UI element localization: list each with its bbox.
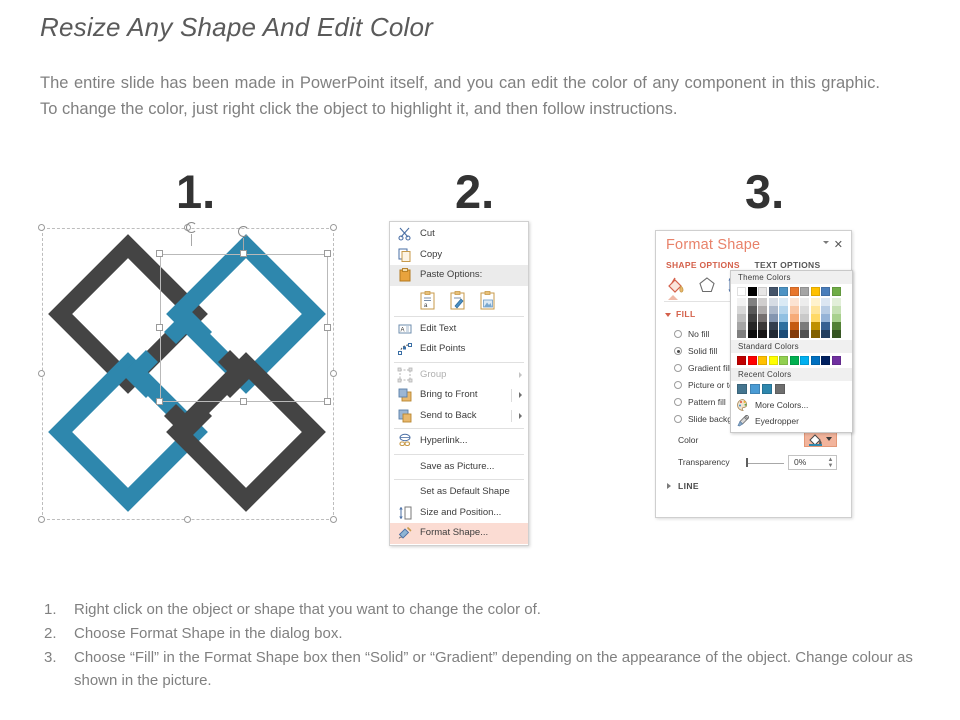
context-menu-label: Group — [420, 369, 446, 380]
radio-label: No fill — [688, 329, 709, 339]
context-menu-label: Save as Picture... — [420, 461, 494, 472]
menu-separator — [394, 316, 524, 317]
bring-front-icon — [397, 387, 413, 403]
transparency-value: 0% — [794, 457, 806, 467]
chevron-down-icon[interactable] — [826, 437, 832, 441]
line-expand-triangle-icon[interactable] — [667, 483, 671, 489]
context-menu-label: Bring to Front — [420, 389, 478, 400]
color-swatch[interactable] — [769, 298, 778, 306]
context-menu-label: Copy — [420, 249, 442, 260]
radio-label: Pattern fill — [688, 397, 726, 407]
recent-colors-header: Recent Colors — [731, 368, 852, 381]
paste-icon — [397, 267, 413, 283]
menu-divider — [511, 389, 512, 402]
effects-pentagon-icon[interactable] — [696, 275, 718, 295]
submenu-arrow-icon — [519, 392, 522, 398]
transparency-input[interactable]: 0% ▲▼ — [788, 455, 837, 470]
context-menu-item-group: Group — [390, 365, 528, 386]
recent-colors-row[interactable] — [731, 381, 852, 397]
color-swatch[interactable] — [758, 356, 767, 365]
color-swatch[interactable] — [821, 298, 830, 306]
more-colors-item[interactable]: More Colors... — [731, 397, 852, 413]
color-bucket-icon — [808, 432, 824, 446]
theme-color-column[interactable] — [769, 287, 778, 338]
color-swatch[interactable] — [758, 322, 767, 330]
context-menu-label: Format Shape... — [420, 527, 488, 538]
theme-color-column[interactable] — [832, 287, 841, 338]
inner-handle-nw[interactable] — [156, 250, 163, 257]
fill-expand-triangle-icon[interactable] — [665, 313, 671, 317]
color-swatch[interactable] — [790, 298, 799, 306]
menu-separator — [394, 362, 524, 363]
dialog-title: Format Shape — [666, 237, 760, 253]
context-menu-label: Hyperlink... — [420, 435, 468, 446]
menu-separator — [394, 479, 524, 480]
radio-label: Solid fill — [688, 346, 717, 356]
inner-handle-sw[interactable] — [156, 398, 163, 405]
page-title: Resize Any Shape And Edit Color — [40, 12, 433, 43]
theme-color-column[interactable] — [779, 287, 788, 338]
color-swatch[interactable] — [811, 287, 820, 296]
color-swatch[interactable] — [737, 306, 746, 314]
right-click-context-menu[interactable]: Cut Copy Paste Options: — [389, 221, 529, 546]
eyedropper-icon — [736, 414, 750, 428]
theme-color-column[interactable] — [790, 287, 799, 338]
context-menu-label: Paste Options: — [420, 269, 482, 280]
color-swatch[interactable] — [737, 314, 746, 322]
color-swatch[interactable] — [811, 298, 820, 306]
color-swatch[interactable] — [769, 314, 778, 322]
format-shape-icon — [397, 525, 413, 541]
edit-text-icon: A — [397, 321, 413, 337]
color-swatch[interactable] — [800, 306, 809, 314]
color-swatch[interactable] — [800, 314, 809, 322]
color-swatch[interactable] — [775, 384, 785, 394]
color-swatch[interactable] — [790, 330, 799, 338]
standard-colors-row[interactable] — [731, 353, 852, 368]
context-menu-item-size-and-position[interactable]: Size and Position... — [390, 503, 528, 524]
color-swatch[interactable] — [779, 287, 788, 296]
color-swatch[interactable] — [758, 298, 767, 306]
inner-handle-se[interactable] — [324, 398, 331, 405]
context-menu-item-edit-text[interactable]: A Edit Text — [390, 319, 528, 340]
list-number: 2. — [44, 622, 66, 645]
color-swatch[interactable] — [821, 287, 830, 296]
theme-color-column[interactable] — [800, 287, 809, 338]
resize-handle-ne[interactable] — [330, 224, 337, 231]
context-menu-item-paste-options: Paste Options: — [390, 265, 528, 286]
context-menu-item-set-as-default-shape[interactable]: Set as Default Shape — [390, 482, 528, 503]
color-picker-popup[interactable]: Theme Colors Standard Colors Recent Colo… — [730, 270, 853, 433]
context-menu-item-hyperlink[interactable]: Hyperlink... — [390, 431, 528, 452]
theme-color-column[interactable] — [811, 287, 820, 338]
context-menu-item-cut[interactable]: Cut — [390, 224, 528, 245]
list-text: Right click on the object or shape that … — [74, 598, 938, 621]
more-colors-label: More Colors... — [755, 400, 808, 410]
context-menu-label: Send to Back — [420, 410, 477, 421]
resize-handle-e[interactable] — [330, 370, 337, 377]
color-swatch[interactable] — [748, 287, 757, 296]
color-swatch[interactable] — [821, 356, 830, 365]
radio-button-icon[interactable] — [674, 364, 682, 372]
step-number-1: 1. — [176, 168, 215, 215]
color-swatch[interactable] — [737, 356, 746, 365]
color-swatch[interactable] — [779, 306, 788, 314]
rotate-handle-outer[interactable] — [186, 222, 197, 233]
fill-bucket-icon[interactable] — [666, 275, 688, 295]
radio-button-icon[interactable] — [674, 398, 682, 406]
color-swatch[interactable] — [811, 306, 820, 314]
dialog-tabs[interactable]: SHAPE OPTIONS TEXT OPTIONS — [666, 260, 820, 270]
eyedropper-item[interactable]: Eyedropper — [731, 413, 852, 429]
list-text: Choose Format Shape in the dialog box. — [74, 622, 938, 645]
color-swatch[interactable] — [800, 322, 809, 330]
color-swatch[interactable] — [769, 287, 778, 296]
fill-section-header[interactable]: FILL — [676, 309, 696, 319]
rotate-stem-inner — [243, 238, 244, 250]
rotate-stem-outer — [191, 234, 192, 246]
color-swatch[interactable] — [769, 330, 778, 338]
edit-points-icon — [397, 341, 413, 357]
inner-handle-n[interactable] — [240, 250, 247, 257]
color-swatch[interactable] — [748, 330, 757, 338]
list-item: 3. Choose “Fill” in the Format Shape box… — [38, 646, 938, 692]
paste-options-buttons[interactable]: a — [390, 286, 528, 314]
transparency-label: Transparency — [678, 457, 730, 467]
transparency-slider-knob[interactable] — [746, 458, 748, 467]
step-number-2: 2. — [455, 168, 494, 215]
color-swatch[interactable] — [758, 306, 767, 314]
color-swatch[interactable] — [832, 287, 841, 296]
transparency-slider-track[interactable] — [748, 463, 784, 464]
color-swatch[interactable] — [750, 384, 760, 394]
color-swatch[interactable] — [779, 314, 788, 322]
context-menu-item-bring-to-front[interactable]: Bring to Front — [390, 385, 528, 406]
resize-handle-w[interactable] — [38, 370, 45, 377]
color-swatch[interactable] — [800, 287, 809, 296]
color-swatch[interactable] — [790, 356, 799, 365]
color-swatch[interactable] — [821, 314, 830, 322]
theme-colors-grid[interactable] — [731, 284, 852, 340]
context-menu-item-save-as-picture[interactable]: Save as Picture... — [390, 457, 528, 478]
theme-colors-header: Theme Colors — [731, 271, 852, 284]
inner-selection-box — [160, 254, 328, 402]
radio-button-icon[interactable] — [674, 415, 682, 423]
list-number: 3. — [44, 646, 66, 669]
color-swatch[interactable] — [769, 306, 778, 314]
color-swatch[interactable] — [821, 306, 830, 314]
color-swatch[interactable] — [748, 306, 757, 314]
slide-canvas: Resize Any Shape And Edit Color The enti… — [0, 0, 960, 720]
color-swatch[interactable] — [758, 287, 767, 296]
color-swatch[interactable] — [769, 356, 778, 365]
context-menu-label: Size and Position... — [420, 507, 501, 518]
submenu-arrow-icon — [519, 413, 522, 419]
context-menu-item-format-shape[interactable]: Format Shape... — [390, 523, 528, 544]
radio-button-icon[interactable] — [674, 381, 682, 389]
color-swatch[interactable] — [790, 314, 799, 322]
color-swatch[interactable] — [769, 322, 778, 330]
inner-handle-ne[interactable] — [324, 250, 331, 257]
color-swatch[interactable] — [779, 322, 788, 330]
color-swatch[interactable] — [737, 330, 746, 338]
resize-handle-nw[interactable] — [38, 224, 45, 231]
spinner-arrows-icon[interactable]: ▲▼ — [827, 457, 834, 470]
send-back-icon — [397, 408, 413, 424]
color-swatch[interactable] — [779, 356, 788, 365]
color-swatch[interactable] — [800, 356, 809, 365]
inner-handle-s[interactable] — [240, 398, 247, 405]
color-swatch[interactable] — [811, 314, 820, 322]
step-number-3: 3. — [745, 168, 784, 215]
hyperlink-icon — [397, 433, 413, 449]
color-swatch[interactable] — [811, 356, 820, 365]
paste-picture-icon[interactable] — [478, 290, 498, 311]
instructions-list: 1. Right click on the object or shape th… — [38, 598, 938, 693]
rotate-handle-inner[interactable] — [238, 226, 249, 237]
context-menu-label: Edit Points — [420, 343, 465, 354]
context-menu-item-send-to-back[interactable]: Send to Back — [390, 406, 528, 427]
color-swatch[interactable] — [779, 298, 788, 306]
color-swatch[interactable] — [821, 322, 830, 330]
paste-use-destination-theme-icon[interactable] — [448, 290, 468, 311]
theme-color-column[interactable] — [821, 287, 830, 338]
intro-paragraph: The entire slide has been made in PowerP… — [40, 70, 880, 122]
color-swatch[interactable] — [758, 330, 767, 338]
color-swatch[interactable] — [832, 298, 841, 306]
line-section-header[interactable]: LINE — [678, 481, 699, 491]
chevron-down-icon[interactable] — [823, 241, 829, 244]
color-swatch[interactable] — [811, 322, 820, 330]
color-swatch[interactable] — [800, 298, 809, 306]
list-item: 1. Right click on the object or shape th… — [38, 598, 938, 621]
tab-text-options[interactable]: TEXT OPTIONS — [754, 260, 820, 270]
submenu-arrow-icon — [519, 372, 522, 378]
context-menu-label: Set as Default Shape — [420, 486, 510, 497]
tab-shape-options[interactable]: SHAPE OPTIONS — [666, 260, 740, 270]
radio-button-selected-icon[interactable] — [674, 347, 682, 355]
context-menu-item-copy[interactable]: Copy — [390, 245, 528, 266]
color-swatch[interactable] — [832, 330, 841, 338]
eyedropper-label: Eyedropper — [755, 416, 799, 426]
list-text: Choose “Fill” in the Format Shape box th… — [74, 646, 938, 692]
color-swatch[interactable] — [790, 306, 799, 314]
color-swatch[interactable] — [779, 330, 788, 338]
resize-handle-se[interactable] — [330, 516, 337, 523]
color-swatch[interactable] — [748, 322, 757, 330]
color-swatch[interactable] — [800, 330, 809, 338]
standard-colors-header: Standard Colors — [731, 340, 852, 353]
color-swatch[interactable] — [832, 322, 841, 330]
color-swatch[interactable] — [832, 306, 841, 314]
scissors-icon — [397, 226, 413, 242]
color-swatch[interactable] — [762, 384, 772, 394]
color-swatch[interactable] — [748, 314, 757, 322]
color-swatch[interactable] — [832, 356, 841, 365]
color-swatch[interactable] — [790, 322, 799, 330]
list-number: 1. — [44, 598, 66, 621]
section-caret-icon — [668, 295, 678, 300]
inner-handle-e[interactable] — [324, 324, 331, 331]
color-label: Color — [678, 435, 698, 445]
context-menu-label: Cut — [420, 228, 435, 239]
color-swatch[interactable] — [748, 298, 757, 306]
theme-color-column[interactable] — [758, 287, 767, 338]
inner-handle-w[interactable] — [156, 324, 163, 331]
svg-text:A: A — [401, 327, 405, 333]
context-menu-item-edit-points[interactable]: Edit Points — [390, 339, 528, 360]
group-icon — [397, 367, 413, 383]
resize-handle-s[interactable] — [184, 516, 191, 523]
color-swatch[interactable] — [737, 322, 746, 330]
size-position-icon — [397, 505, 413, 521]
list-item: 2. Choose Format Shape in the dialog box… — [38, 622, 938, 645]
context-menu-label: Edit Text — [420, 323, 456, 334]
radio-label: Gradient fill — [688, 363, 731, 373]
menu-separator — [394, 428, 524, 429]
menu-separator — [394, 454, 524, 455]
color-swatch[interactable] — [737, 298, 746, 306]
theme-color-column[interactable] — [737, 287, 746, 338]
color-swatch[interactable] — [737, 384, 747, 394]
copy-icon — [397, 247, 413, 263]
close-icon[interactable]: ✕ — [834, 238, 843, 251]
menu-divider — [511, 410, 512, 423]
color-swatch[interactable] — [748, 356, 757, 365]
color-swatch[interactable] — [737, 287, 746, 296]
color-swatch[interactable] — [758, 314, 767, 322]
radio-button-icon[interactable] — [674, 330, 682, 338]
paste-keep-source-formatting-icon[interactable]: a — [418, 290, 438, 311]
palette-icon — [736, 398, 750, 412]
shape-graphic-panel[interactable] — [42, 228, 334, 520]
color-swatch[interactable] — [821, 330, 830, 338]
theme-color-column[interactable] — [748, 287, 757, 338]
resize-handle-sw[interactable] — [38, 516, 45, 523]
color-swatch[interactable] — [832, 314, 841, 322]
color-swatch[interactable] — [790, 287, 799, 296]
color-swatch[interactable] — [811, 330, 820, 338]
